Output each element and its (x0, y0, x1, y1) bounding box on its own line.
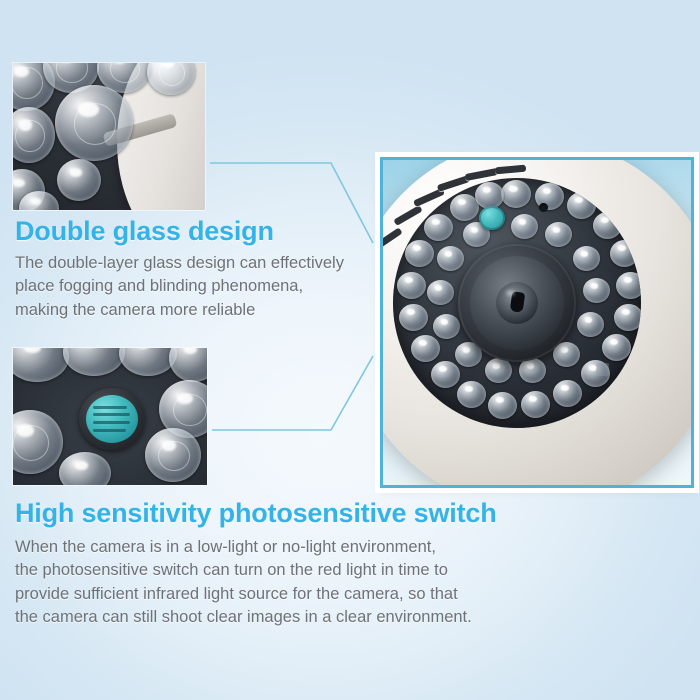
vent-slot (393, 205, 422, 226)
ir-led (616, 272, 641, 299)
body-line: When the camera is in a low-light or no-… (15, 536, 535, 559)
led-dome (55, 85, 133, 161)
ir-led (521, 391, 550, 418)
ir-led (399, 304, 428, 331)
body-line: the photosensitive switch can turn on th… (15, 559, 535, 582)
lens-highlight (506, 290, 515, 296)
ir-led (573, 246, 600, 271)
ir-led (553, 380, 582, 407)
body-line: The double-layer glass design can effect… (15, 252, 390, 275)
microphone-hole-icon (539, 203, 548, 212)
led-dome (145, 428, 201, 482)
ir-led (567, 192, 596, 219)
body-line: provide sufficient infrared light source… (15, 583, 535, 606)
ir-led (583, 278, 610, 303)
photosensitive-switch-sensor (479, 206, 505, 230)
ir-led (511, 214, 538, 239)
ir-led (475, 182, 504, 209)
body-line: the camera can still shoot clear images … (15, 606, 535, 629)
photoresistor-housing (79, 388, 145, 450)
ir-led (433, 314, 460, 339)
vent-slot (380, 227, 403, 247)
connector-line-photosensitive (212, 356, 373, 430)
ir-led (614, 304, 641, 331)
ir-led (437, 246, 464, 271)
vent-slot (495, 165, 526, 175)
feature-body-double-glass: The double-layer glass design can effect… (15, 252, 390, 322)
photoresistor-trace (93, 429, 125, 432)
vent-slot (465, 168, 499, 181)
ir-led (427, 280, 454, 305)
feature-headline-double-glass: Double glass design (15, 216, 274, 247)
inset-photo-double-glass (13, 63, 205, 210)
ir-led (405, 240, 434, 267)
ir-led (545, 222, 572, 247)
inset-photo-photosensitive-switch (13, 348, 207, 485)
ir-led (501, 180, 531, 208)
body-line: place fogging and blinding phenomena, (15, 275, 390, 298)
ir-led (610, 240, 639, 267)
ir-led (577, 312, 604, 337)
ir-led (488, 392, 517, 419)
camera-lens-barrel (458, 244, 576, 362)
board-marking (596, 363, 609, 376)
ir-led (485, 358, 512, 383)
photoresistor-trace (93, 413, 129, 416)
feature-headline-photosensitive-switch: High sensitivity photosensitive switch (15, 498, 497, 529)
ir-led (593, 212, 622, 239)
photoresistor-disc (86, 395, 138, 443)
lens-glass (496, 282, 538, 324)
ir-led (457, 381, 486, 408)
camera-housing (380, 157, 694, 488)
ir-led (424, 214, 453, 241)
ir-led (519, 358, 546, 383)
ir-led (602, 334, 631, 361)
ir-led (431, 361, 460, 388)
photoresistor-trace (93, 406, 126, 409)
ir-led (397, 272, 426, 299)
infrared-led-faceplate (393, 178, 641, 428)
lens-mid-ring (470, 256, 564, 350)
photoresistor-trace (93, 421, 129, 424)
led-dome (57, 159, 101, 201)
main-product-photo (380, 157, 694, 488)
ir-led (411, 335, 440, 362)
body-line: making the camera more reliable (15, 299, 390, 322)
feature-body-photosensitive-switch: When the camera is in a low-light or no-… (15, 536, 535, 630)
product-feature-graphic: Double glass design The double-layer gla… (0, 0, 700, 700)
